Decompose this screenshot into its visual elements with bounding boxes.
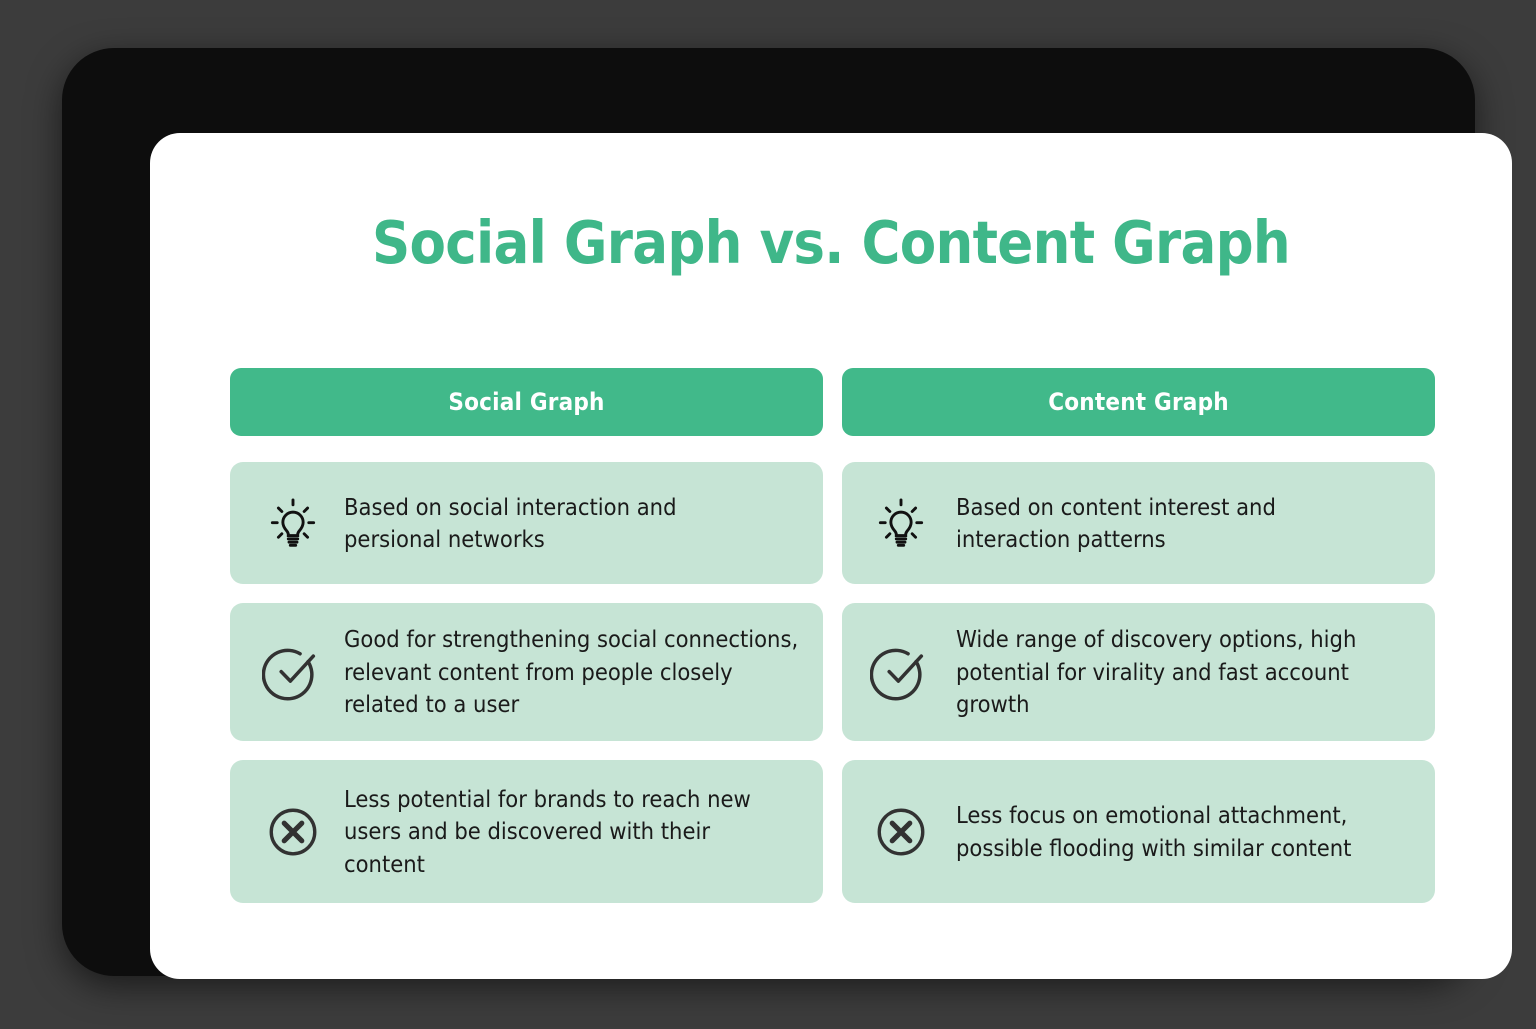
column-content-graph: Content Graph Based on content interest …: [842, 368, 1435, 903]
device-frame: Social Graph vs. Content Graph Social Gr…: [62, 48, 1475, 976]
column-header-social-graph[interactable]: Social Graph: [230, 368, 823, 436]
x-circle-icon: [260, 799, 326, 865]
feature-card[interactable]: Based on social interaction and persiona…: [230, 462, 823, 584]
column-social-graph: Social Graph Based on social interaction…: [230, 368, 823, 903]
lightbulb-icon: [260, 490, 326, 556]
check-circle-icon: [868, 639, 934, 705]
feature-text: Based on social interaction and persiona…: [344, 491, 677, 556]
feature-card[interactable]: Wide range of discovery options, high po…: [842, 603, 1435, 741]
feature-card[interactable]: Based on content interest and interactio…: [842, 462, 1435, 584]
feature-text: Based on content interest and interactio…: [956, 491, 1276, 556]
comparison-grid: Social Graph Based on social interaction…: [230, 368, 1435, 903]
check-circle-icon: [260, 639, 326, 705]
page-title: Social Graph vs. Content Graph: [150, 213, 1512, 272]
lightbulb-icon: [868, 490, 934, 556]
feature-card[interactable]: Less focus on emotional attachment, poss…: [842, 760, 1435, 903]
feature-text: Wide range of discovery options, high po…: [956, 623, 1356, 720]
feature-card[interactable]: Less potential for brands to reach new u…: [230, 760, 823, 903]
column-header-content-graph[interactable]: Content Graph: [842, 368, 1435, 436]
feature-text: Good for strengthening social connection…: [344, 623, 798, 720]
feature-text: Less focus on emotional attachment, poss…: [956, 799, 1351, 864]
x-circle-icon: [868, 799, 934, 865]
feature-card[interactable]: Good for strengthening social connection…: [230, 603, 823, 741]
page-card: Social Graph vs. Content Graph Social Gr…: [150, 133, 1512, 979]
feature-text: Less potential for brands to reach new u…: [344, 783, 751, 880]
